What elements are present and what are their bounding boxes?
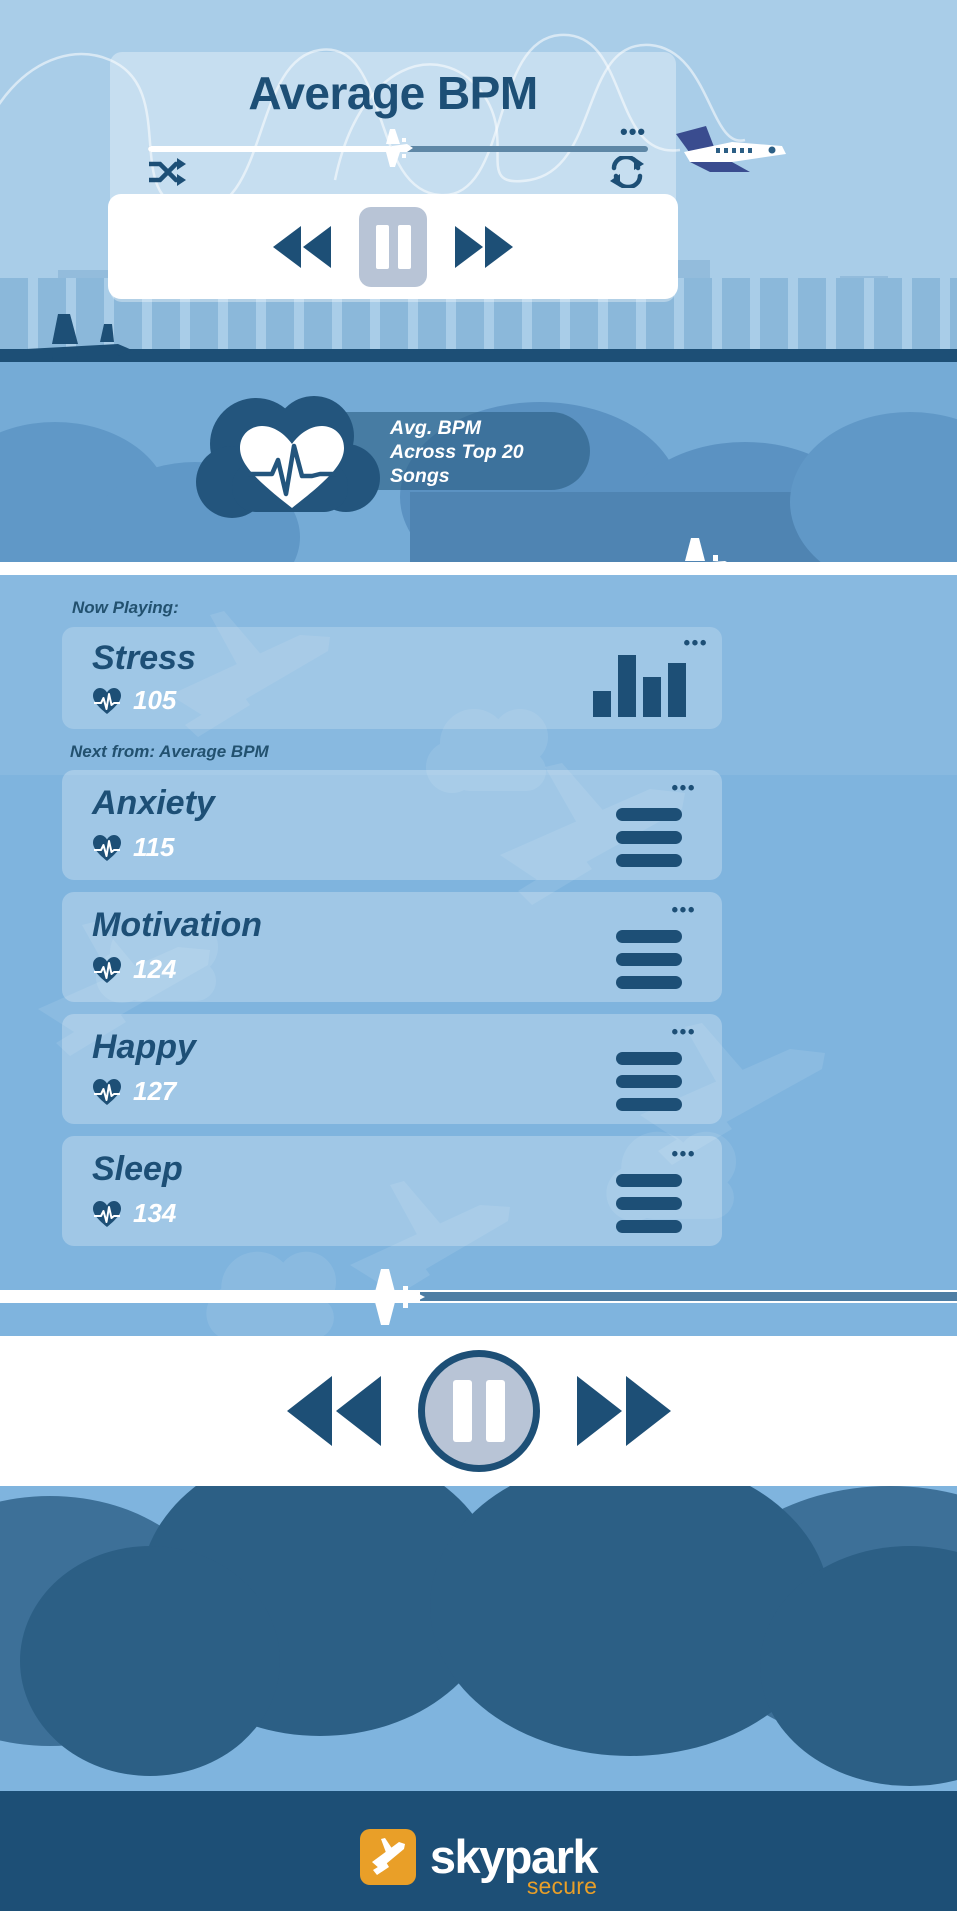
header-playback-controls — [108, 194, 678, 299]
more-options-icon[interactable]: ••• — [672, 1152, 696, 1158]
page-title: Average BPM — [110, 66, 676, 120]
track-name: Stress — [92, 639, 196, 678]
more-options-icon[interactable]: ••• — [672, 908, 696, 914]
heartbeat-icon — [92, 955, 122, 985]
list-item[interactable]: Motivation 124 ••• — [62, 892, 722, 1002]
separator-bar-right — [420, 1292, 957, 1301]
track-bpm-value: 105 — [133, 685, 176, 716]
heartbeat-cloud-icon — [196, 396, 392, 518]
pause-button[interactable] — [359, 207, 427, 287]
separator-airplane-icon-2 — [345, 1266, 435, 1328]
separator-line-top — [0, 562, 957, 575]
track-name: Happy — [92, 1028, 196, 1067]
pause-bar-right — [398, 225, 411, 269]
badge-line-2: Across Top 20 — [390, 441, 524, 463]
now-playing-track[interactable]: Stress 105 ••• — [62, 627, 722, 729]
drag-handle-icon[interactable] — [616, 1052, 682, 1111]
list-item[interactable]: Happy 127 ••• — [62, 1014, 722, 1124]
heartbeat-icon — [92, 1199, 122, 1229]
track-bpm-value: 115 — [133, 832, 174, 863]
pause-button[interactable] — [418, 1350, 540, 1472]
shuffle-icon[interactable] — [146, 158, 186, 188]
progress-bar[interactable] — [148, 144, 648, 153]
track-bpm-row: 127 — [92, 1076, 176, 1107]
progress-thumb-airplane-icon[interactable] — [373, 126, 417, 170]
brand-logo[interactable]: skypark secure — [0, 1829, 957, 1885]
next-track-icon[interactable] — [574, 1373, 674, 1449]
footer: skypark secure — [0, 1486, 957, 1911]
repeat-icon[interactable] — [608, 156, 646, 188]
drag-handle-icon[interactable] — [616, 930, 682, 989]
track-name: Motivation — [92, 906, 262, 945]
bottom-playback-controls — [0, 1336, 957, 1486]
pause-bar-left — [376, 225, 389, 269]
airplane-logo-icon — [360, 1829, 416, 1885]
heartbeat-icon — [92, 1077, 122, 1107]
more-options-icon[interactable]: ••• — [620, 128, 646, 136]
track-bpm-value: 124 — [133, 954, 176, 985]
badge-text: Avg. BPM Across Top 20 Songs — [390, 416, 580, 488]
badge-line-3: Songs — [390, 465, 450, 487]
track-bpm-row: 124 — [92, 954, 176, 985]
previous-track-icon[interactable] — [271, 224, 333, 270]
pause-bar-left — [453, 1380, 472, 1442]
track-bpm-value: 134 — [133, 1198, 176, 1229]
track-bpm-row: 115 — [92, 832, 174, 863]
list-item[interactable]: Sleep 134 ••• — [62, 1136, 722, 1246]
infographic-page: Average BPM ••• — [0, 0, 957, 1911]
more-options-icon[interactable]: ••• — [672, 1030, 696, 1036]
heartbeat-icon — [92, 833, 122, 863]
drag-handle-icon[interactable] — [616, 808, 682, 867]
runway-line — [0, 349, 957, 362]
brand-subtitle: secure — [527, 1873, 597, 1900]
track-name: Anxiety — [92, 784, 215, 823]
track-bpm-row: 105 — [92, 685, 176, 716]
more-options-icon[interactable]: ••• — [672, 786, 696, 792]
previous-track-icon[interactable] — [284, 1373, 384, 1449]
now-playing-label: Now Playing: — [72, 598, 179, 618]
next-from-label: Next from: Average BPM — [70, 742, 269, 762]
next-track-icon[interactable] — [453, 224, 515, 270]
brand-text: skypark secure — [430, 1834, 597, 1880]
badge-line-1: Avg. BPM — [390, 417, 481, 439]
track-name: Sleep — [92, 1150, 183, 1189]
airplane-illustration-icon — [672, 122, 792, 174]
equalizer-icon — [593, 655, 686, 717]
track-bpm-row: 134 — [92, 1198, 176, 1229]
drag-handle-icon[interactable] — [616, 1174, 682, 1233]
heartbeat-icon — [92, 686, 122, 716]
pause-bar-right — [486, 1380, 505, 1442]
more-options-icon[interactable]: ••• — [684, 641, 708, 647]
track-bpm-value: 127 — [133, 1076, 176, 1107]
list-item[interactable]: Anxiety 115 ••• — [62, 770, 722, 880]
progress-fill — [148, 146, 393, 152]
